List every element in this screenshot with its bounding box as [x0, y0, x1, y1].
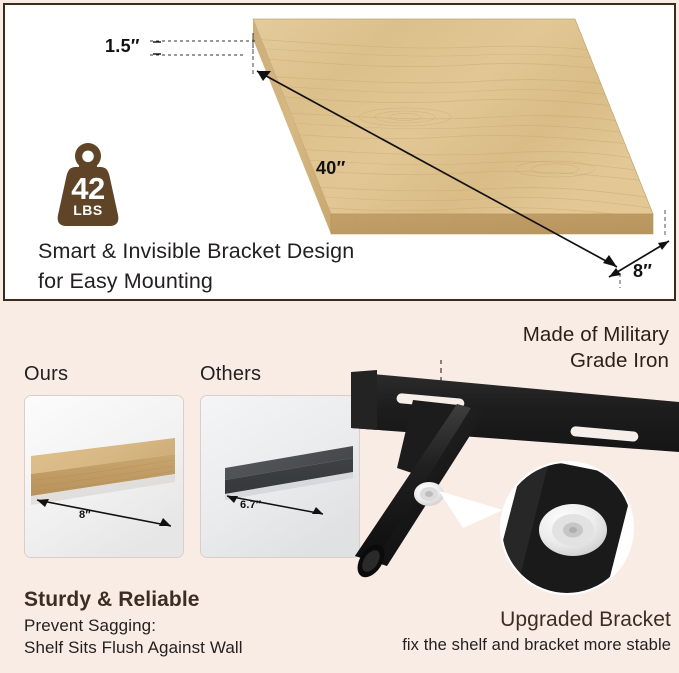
dimension-label-depth: 8″	[633, 261, 652, 282]
military-iron-heading-line1: Made of Military	[339, 322, 669, 348]
upgraded-bracket-sub: fix the shelf and bracket more stable	[402, 636, 671, 655]
weight-value: 42	[50, 173, 126, 204]
others-dimension-label: 6.7″	[240, 499, 261, 511]
bracket-illustration	[335, 360, 679, 610]
zoom-callout-circle	[485, 456, 635, 610]
product-infographic: 1.5″ 40″ 8″ 42 LBS Smart & Invisible Bra…	[0, 0, 679, 673]
bracket-screw-small	[414, 482, 444, 506]
sturdy-sub-line1: Prevent Sagging:	[24, 616, 156, 636]
sturdy-heading: Sturdy & Reliable	[24, 588, 200, 612]
weight-capacity-badge: 42 LBS	[50, 139, 126, 231]
sturdy-sub-line2: Shelf Sits Flush Against Wall	[24, 638, 243, 658]
top-headline-line2: for Easy Mounting	[38, 267, 468, 297]
ours-shelf-image	[25, 396, 184, 558]
compare-label-others: Others	[200, 363, 261, 386]
top-headline-line1: Smart & Invisible Bracket Design	[38, 237, 468, 267]
dimension-label-thickness: 1.5″	[105, 36, 140, 57]
top-headline: Smart & Invisible Bracket Design for Eas…	[38, 237, 468, 296]
top-panel: 1.5″ 40″ 8″ 42 LBS Smart & Invisible Bra…	[3, 3, 676, 301]
shelf-dimension-diagram: 1.5″ 40″ 8″ 42 LBS Smart & Invisible Bra…	[5, 5, 674, 299]
compare-label-ours: Ours	[24, 363, 68, 386]
dimension-label-length: 40″	[316, 158, 346, 179]
upgraded-bracket-heading: Upgraded Bracket	[500, 608, 671, 632]
ours-dimension-label: 8″	[79, 509, 91, 521]
weight-unit: LBS	[50, 203, 126, 217]
compare-card-ours: 8″	[24, 395, 184, 558]
